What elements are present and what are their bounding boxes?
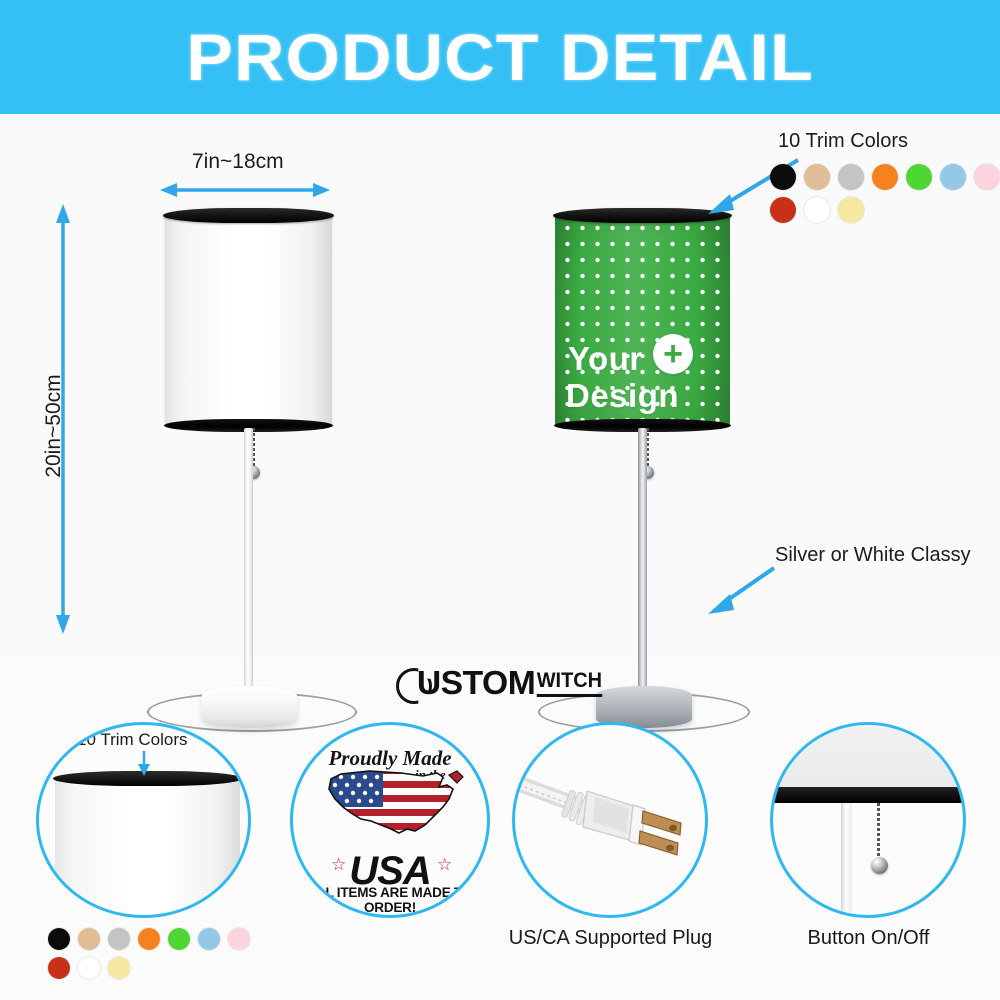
trim-swatch-light-blue[interactable] xyxy=(198,928,220,950)
trim-swatch-orange[interactable] xyxy=(138,928,160,950)
trim-swatch-white[interactable] xyxy=(78,957,100,979)
main-product-stage: 7in~18cm 20in~50cm xyxy=(0,114,1000,660)
feature-trim-colors: 10 Trim Colors xyxy=(36,722,264,1000)
shade-surface xyxy=(165,214,332,426)
logo-secondary-text: WITCH xyxy=(537,669,602,697)
switch-closeup-pole xyxy=(841,803,852,918)
feature-circle-content xyxy=(773,725,963,915)
trim-swatch-white[interactable] xyxy=(804,197,830,223)
trim-color-swatches-bottom xyxy=(48,928,278,986)
switch-pull-chain[interactable] xyxy=(877,803,880,865)
feature-circle-content: Proudly Made in the xyxy=(293,725,487,915)
feature-circle-made-in-usa: Proudly Made in the xyxy=(290,722,490,918)
trim-colors-callout-label: 10 Trim Colors xyxy=(778,130,908,153)
base-material-label: Silver or White Classy xyxy=(775,544,971,567)
feature-trim-colors-inner-label: 10 Trim Colors xyxy=(77,730,188,750)
trim-swatch-light-blue[interactable] xyxy=(940,164,966,190)
shade-closeup-surface xyxy=(55,777,240,918)
brand-logo: USTOM WITCH xyxy=(0,662,1000,704)
white-lamp-shade xyxy=(165,214,332,426)
feature-plug-caption: US/CA Supported Plug xyxy=(498,927,723,950)
your-design-line2: Design xyxy=(566,379,679,412)
feature-circle-content: 10 Trim Colors xyxy=(39,725,248,915)
trim-swatch-orange[interactable] xyxy=(872,164,898,190)
feature-switch: Button On/Off xyxy=(770,722,990,962)
trim-swatch-green[interactable] xyxy=(168,928,190,950)
width-dimension-label: 7in~18cm xyxy=(192,150,284,174)
trim-swatch-gray[interactable] xyxy=(838,164,864,190)
trim-swatch-tan[interactable] xyxy=(78,928,100,950)
height-dimension-arrow xyxy=(53,204,73,634)
trim-swatch-pink[interactable] xyxy=(228,928,250,950)
add-design-plus-icon[interactable]: + xyxy=(653,334,693,374)
trim-swatch-gray[interactable] xyxy=(108,928,130,950)
custom-lamp-shade: Your + Design xyxy=(555,214,730,426)
page-header-banner: PRODUCT DETAIL xyxy=(0,0,1000,114)
shade-top-trim xyxy=(163,208,334,223)
feature-circle-trim-colors: 10 Trim Colors xyxy=(36,722,251,918)
feature-circle-content xyxy=(515,725,705,915)
usa-badge-bottom-text: ALL ITEMS ARE MADE TO ORDER! xyxy=(293,885,487,915)
trim-swatch-black[interactable] xyxy=(770,164,796,190)
trim-swatch-black[interactable] xyxy=(48,928,70,950)
trim-swatch-tan[interactable] xyxy=(804,164,830,190)
trim-swatch-yellow[interactable] xyxy=(108,957,130,979)
feature-made-in-usa: Proudly Made in the xyxy=(290,722,500,932)
power-plug-icon xyxy=(517,761,708,891)
trim-swatch-red[interactable] xyxy=(48,957,70,979)
feature-plug: US/CA Supported Plug xyxy=(512,722,742,962)
trim-swatch-yellow[interactable] xyxy=(838,197,864,223)
switch-pull-chain-ball[interactable] xyxy=(871,857,888,874)
page-title: PRODUCT DETAIL xyxy=(186,19,814,95)
feature-circle-switch xyxy=(770,722,966,918)
feature-trim-colors-arrow xyxy=(135,751,153,777)
logo-primary-text: USTOM xyxy=(417,664,535,702)
feature-circle-plug xyxy=(512,722,708,918)
feature-switch-caption: Button On/Off xyxy=(766,927,971,950)
white-lamp xyxy=(150,204,370,644)
trim-color-swatches-top xyxy=(770,164,1000,230)
your-design-line1: Your xyxy=(568,342,643,375)
trim-swatch-green[interactable] xyxy=(906,164,932,190)
usa-star-right-icon: ☆ xyxy=(437,855,452,875)
switch-closeup-trim xyxy=(770,787,966,803)
trim-swatch-pink[interactable] xyxy=(974,164,1000,190)
width-dimension-arrow xyxy=(160,180,330,200)
usa-map-flag-icon xyxy=(315,763,471,847)
trim-swatch-red[interactable] xyxy=(770,197,796,223)
base-material-arrow xyxy=(700,562,780,617)
product-detail-page: PRODUCT DETAIL 7in~18cm 20in~50cm xyxy=(0,0,1000,1000)
